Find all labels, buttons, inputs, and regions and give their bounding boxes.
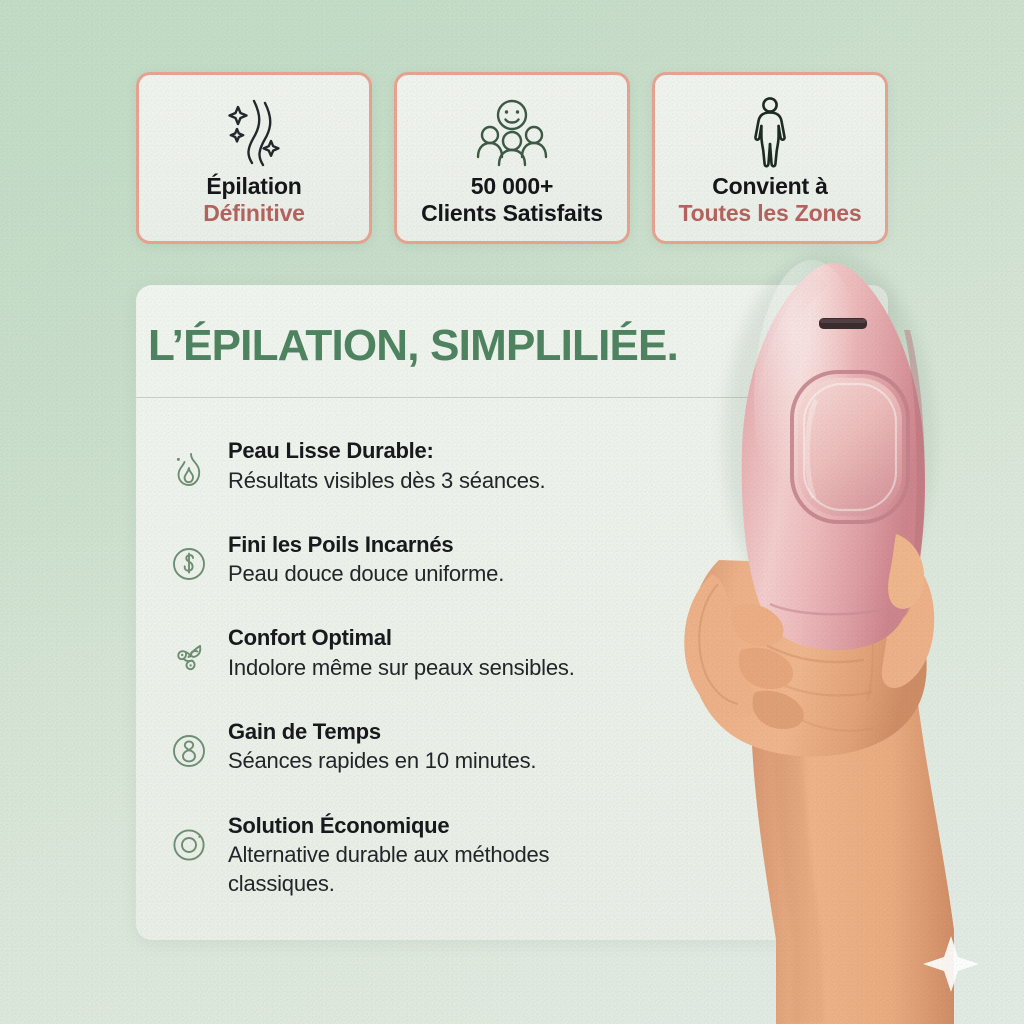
circled-swirl-icon <box>168 543 210 585</box>
badge-card-clients[interactable]: 50 000+ Clients Satisfaits <box>394 72 630 244</box>
sparkle-star-decoration <box>923 936 979 992</box>
coin-circle-icon <box>168 824 210 866</box>
feature-item[interactable]: Gain de Temps Séances rapides en 10 minu… <box>168 716 668 776</box>
circled-hourglass-icon <box>168 730 210 772</box>
badge-line-1: Convient à <box>679 173 862 200</box>
badge-card-text: 50 000+ Clients Satisfaits <box>421 173 603 227</box>
main-content-panel: L’ÉPILATION, SIMPLILIÉE. Peau Lisse Dura… <box>136 285 888 940</box>
feature-item[interactable]: Peau Lisse Durable: Résultats visibles d… <box>168 435 668 495</box>
badge-card-zones[interactable]: Convient à Toutes les Zones <box>652 72 888 244</box>
feature-text: Gain de Temps Séances rapides en 10 minu… <box>228 716 536 776</box>
feature-text: Fini les Poils Incarnés Peau douce douce… <box>228 529 504 589</box>
feature-item[interactable]: Solution Économique Alternative durable … <box>168 810 668 899</box>
title-divider <box>136 397 888 398</box>
badge-line-2: Définitive <box>203 200 305 227</box>
feature-description: Résultats visibles dès 3 séances. <box>228 466 545 495</box>
feature-item[interactable]: Confort Optimal Indolore même sur peaux … <box>168 622 668 682</box>
leaf-knot-icon <box>168 636 210 678</box>
page-title: L’ÉPILATION, SIMPLILIÉE. <box>148 321 678 371</box>
feature-title: Fini les Poils Incarnés <box>228 531 504 560</box>
badge-card-row: Épilation Définitive <box>136 72 888 244</box>
badge-card-text: Convient à Toutes les Zones <box>679 173 862 227</box>
feature-title: Gain de Temps <box>228 718 536 747</box>
badge-card-epilation[interactable]: Épilation Définitive <box>136 72 372 244</box>
badge-line-1: Épilation <box>203 173 305 200</box>
feature-item[interactable]: Fini les Poils Incarnés Peau douce douce… <box>168 529 668 589</box>
badge-line-1: 50 000+ <box>421 173 603 200</box>
feature-list: Peau Lisse Durable: Résultats visibles d… <box>168 435 668 898</box>
feature-title: Solution Économique <box>228 812 648 841</box>
feature-description: Alternative durable aux méthodes classiq… <box>228 840 648 898</box>
body-figure-icon <box>743 95 797 169</box>
sparkle-waves-icon <box>223 95 285 169</box>
happy-people-group-icon <box>470 95 554 169</box>
promo-graphic-canvas: Épilation Définitive <box>0 0 1024 1024</box>
feature-text: Peau Lisse Durable: Résultats visibles d… <box>228 435 545 495</box>
feature-description: Séances rapides en 10 minutes. <box>228 746 536 775</box>
feature-title: Confort Optimal <box>228 624 575 653</box>
feature-text: Solution Économique Alternative durable … <box>228 810 648 899</box>
feature-description: Peau douce douce uniforme. <box>228 559 504 588</box>
flame-icon <box>168 449 210 491</box>
index-finger <box>882 546 934 688</box>
feature-title: Peau Lisse Durable: <box>228 437 545 466</box>
badge-card-text: Épilation Définitive <box>203 173 305 227</box>
fingertip-right <box>888 534 924 609</box>
badge-line-2: Clients Satisfaits <box>421 200 603 227</box>
feature-text: Confort Optimal Indolore même sur peaux … <box>228 622 575 682</box>
feature-description: Indolore même sur peaux sensibles. <box>228 653 575 682</box>
badge-line-2: Toutes les Zones <box>679 200 862 227</box>
